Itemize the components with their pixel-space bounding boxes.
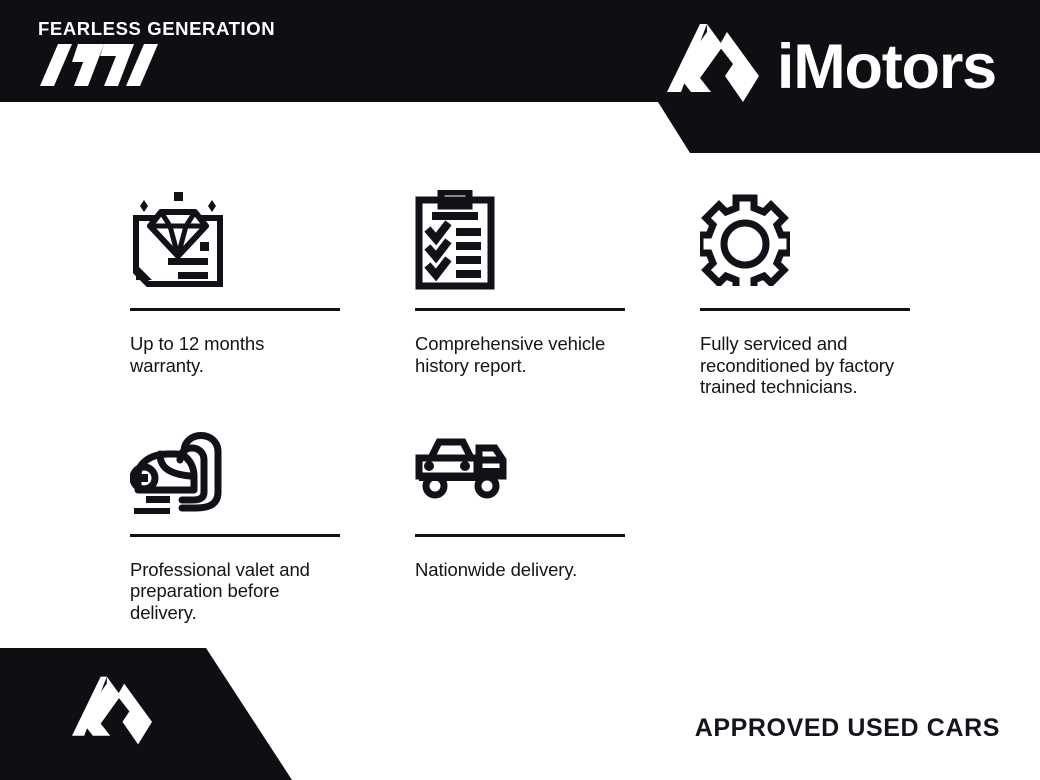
footer-imotors-chevron-logo-icon — [72, 672, 152, 756]
features-row-2: Professional valet and preparation befor… — [130, 412, 920, 624]
feature-divider — [415, 308, 625, 311]
feature-divider — [415, 534, 625, 537]
feature-text-delivery: Nationwide delivery. — [415, 559, 625, 581]
feature-card-history-report: Comprehensive vehicle history report. — [415, 186, 625, 398]
features-grid: Up to 12 months warranty. — [130, 186, 920, 623]
vacuum-cleaner-icon — [130, 412, 340, 520]
year-1971-icon — [38, 42, 158, 88]
feature-divider — [700, 308, 910, 311]
brand-lockup: iMotors — [667, 24, 996, 110]
clipboard-checklist-icon — [415, 186, 625, 294]
feature-card-warranty: Up to 12 months warranty. — [130, 186, 340, 398]
footer-tagline: APPROVED USED CARS — [695, 714, 1000, 743]
feature-text-warranty: Up to 12 months warranty. — [130, 333, 340, 376]
features-row-1: Up to 12 months warranty. — [130, 186, 920, 398]
feature-card-delivery: Nationwide delivery. — [415, 412, 625, 624]
feature-divider — [130, 308, 340, 311]
feature-text-serviced: Fully serviced and reconditioned by fact… — [700, 333, 910, 398]
feature-card-valet: Professional valet and preparation befor… — [130, 412, 340, 624]
feature-card-serviced: Fully serviced and reconditioned by fact… — [700, 186, 910, 398]
feature-text-history-report: Comprehensive vehicle history report. — [415, 333, 625, 376]
diamond-certificate-icon — [130, 186, 340, 294]
imotors-chevron-logo-icon — [667, 24, 759, 110]
feature-text-valet: Professional valet and preparation befor… — [130, 559, 340, 624]
header-eyebrow: FEARLESS GENERATION — [38, 18, 275, 40]
car-transporter-truck-icon — [415, 412, 625, 520]
feature-divider — [130, 534, 340, 537]
fearless-generation-block: FEARLESS GENERATION — [38, 18, 275, 88]
brand-name: iMotors — [777, 36, 996, 99]
gear-icon — [700, 186, 910, 294]
